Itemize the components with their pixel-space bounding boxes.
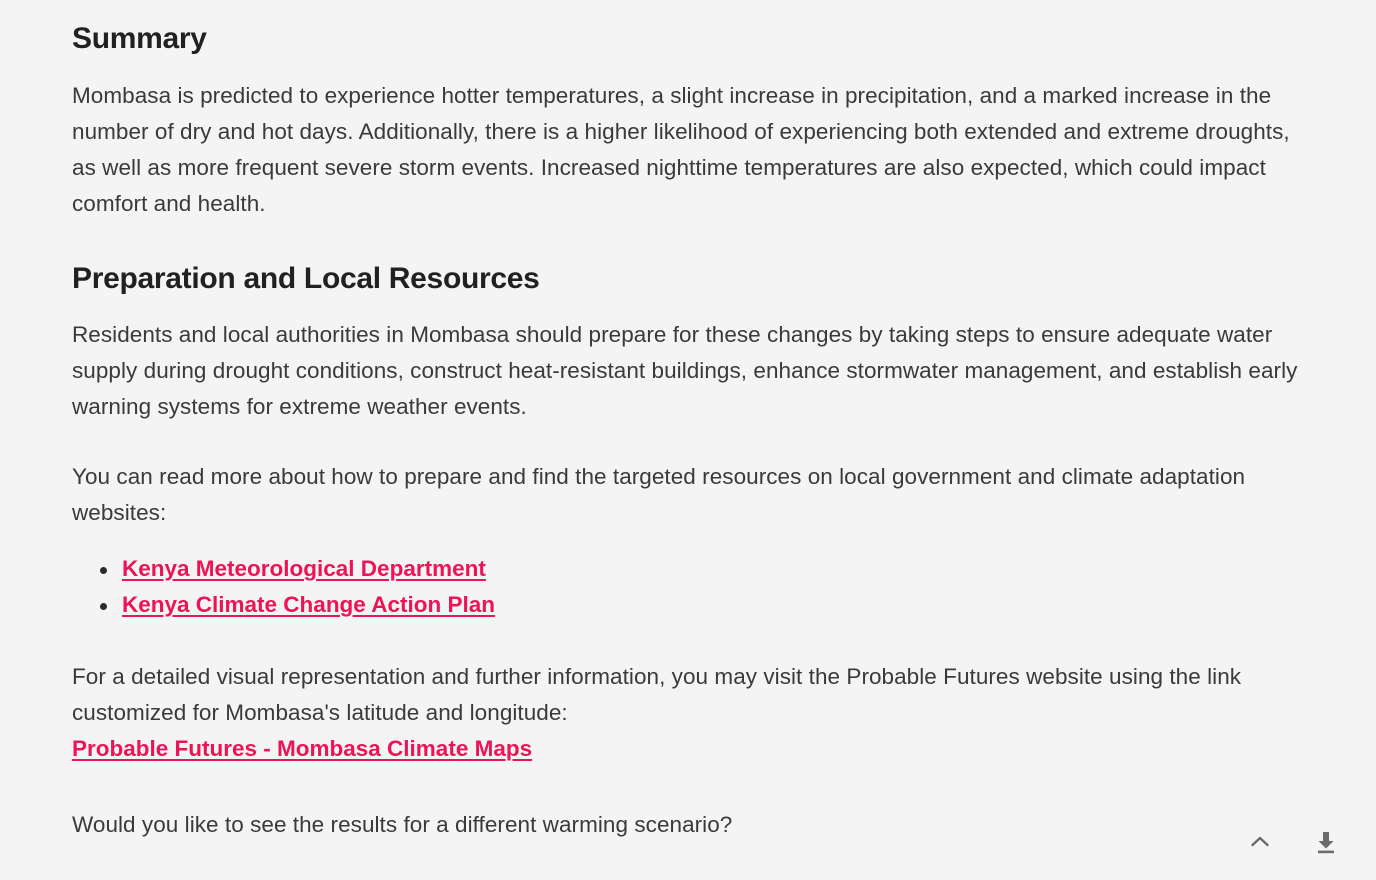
resources-intro-paragraph: You can read more about how to prepare a… bbox=[72, 459, 1304, 531]
link-probable-futures-mombasa-climate-maps[interactable]: Probable Futures - Mombasa Climate Maps bbox=[72, 736, 532, 761]
document-content: Summary Mombasa is predicted to experien… bbox=[72, 0, 1304, 843]
list-item: Kenya Meteorological Department bbox=[122, 551, 1304, 587]
bottom-action-bar bbox=[1240, 822, 1346, 862]
preparation-paragraph: Residents and local authorities in Momba… bbox=[72, 317, 1304, 425]
link-kenya-meteorological-department[interactable]: Kenya Meteorological Department bbox=[122, 556, 486, 581]
link-kenya-climate-change-action-plan[interactable]: Kenya Climate Change Action Plan bbox=[122, 592, 495, 617]
summary-paragraph: Mombasa is predicted to experience hotte… bbox=[72, 78, 1304, 222]
document-page: Summary Mombasa is predicted to experien… bbox=[0, 0, 1376, 880]
followup-question: Would you like to see the results for a … bbox=[72, 807, 1304, 843]
list-item: Kenya Climate Change Action Plan bbox=[122, 587, 1304, 623]
probable-futures-link-row: Probable Futures - Mombasa Climate Maps bbox=[72, 731, 1304, 767]
chevron-up-icon bbox=[1247, 829, 1273, 855]
preparation-heading: Preparation and Local Resources bbox=[72, 260, 1304, 298]
resource-link-list: Kenya Meteorological Department Kenya Cl… bbox=[72, 551, 1304, 623]
download-icon bbox=[1311, 827, 1341, 857]
download-button[interactable] bbox=[1306, 822, 1346, 862]
visual-representation-paragraph: For a detailed visual representation and… bbox=[72, 659, 1304, 731]
scroll-to-top-button[interactable] bbox=[1240, 822, 1280, 862]
summary-heading: Summary bbox=[72, 20, 1304, 58]
